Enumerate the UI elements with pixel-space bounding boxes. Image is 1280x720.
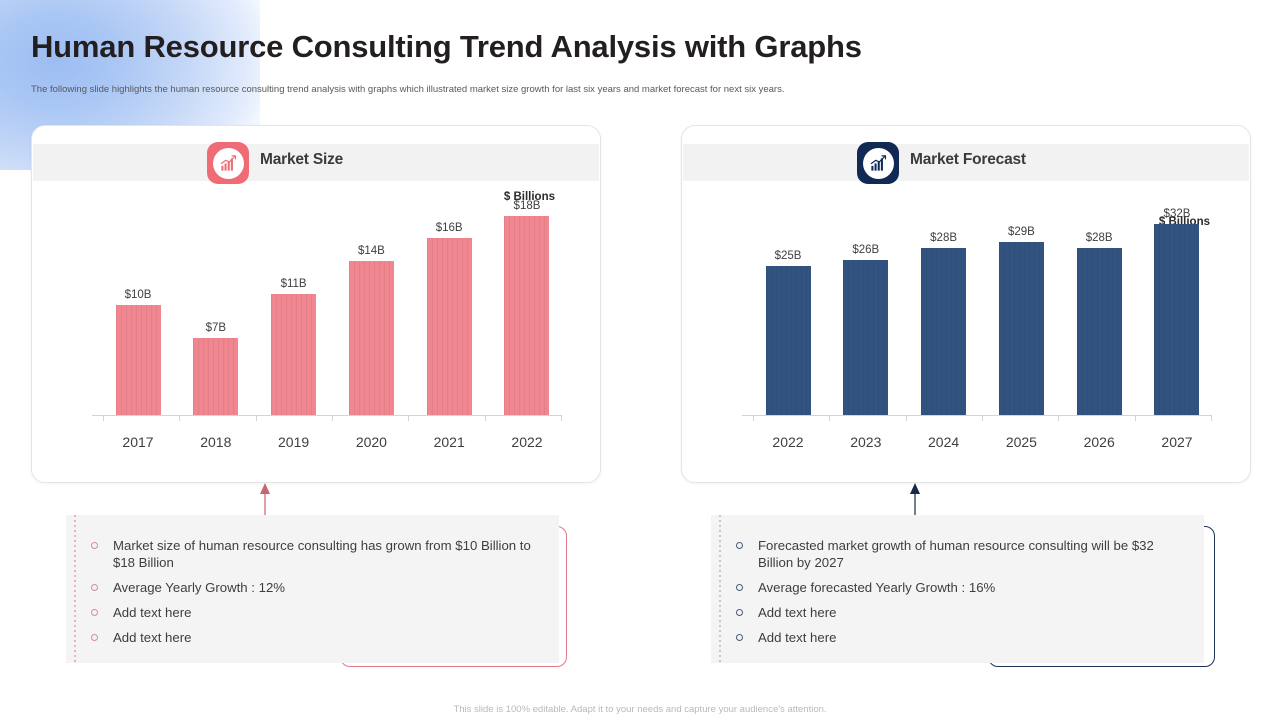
bar-value-label: $32B: [1164, 208, 1191, 220]
axis-tick: [179, 416, 180, 421]
bar-value-label: $28B: [930, 232, 957, 244]
market-size-notes-panel: Market size of human resource consulting…: [66, 515, 559, 663]
bullet-marker-icon: [91, 634, 98, 641]
bar-chart-growth-glyph: [219, 154, 238, 173]
bar-chart-growth-glyph: [869, 154, 888, 173]
axis-tick: [408, 416, 409, 421]
axis-tick: [982, 416, 983, 421]
x-axis-label: 2020: [336, 434, 406, 450]
dotted-rail: [74, 515, 76, 663]
bar-slot: $25B: [753, 192, 823, 416]
axis-tick: [1058, 416, 1059, 421]
bar-chart-growth-icon: [207, 142, 249, 184]
bar: [766, 266, 811, 416]
axis-tick: [561, 416, 562, 421]
market-forecast-notes-panel: Forecasted market growth of human resour…: [711, 515, 1204, 663]
axis-ticks: [103, 416, 562, 421]
plot-area: $10B$7B$11B$14B$16B$18B: [103, 192, 562, 416]
x-axis-label: 2021: [414, 434, 484, 450]
bar-slot: $28B: [909, 192, 979, 416]
axis-tick: [256, 416, 257, 421]
bullet-marker-icon: [736, 542, 743, 549]
footer-note: This slide is 100% editable. Adapt it to…: [0, 704, 1280, 715]
icon-disc: [863, 148, 894, 179]
x-axis-label: 2026: [1064, 434, 1134, 450]
bar-slot: $10B: [103, 192, 173, 416]
axis-tick: [1135, 416, 1136, 421]
bar: [1154, 224, 1199, 416]
bar-slot: $16B: [414, 192, 484, 416]
bar-value-label: $25B: [775, 250, 802, 262]
page-title: Human Resource Consulting Trend Analysis…: [31, 29, 862, 65]
x-axis-labels: 201720182019202020212022: [103, 434, 562, 450]
market-forecast-card: Market Forecast $ Billions $25B$26B$28B$…: [681, 125, 1251, 483]
axis-tick: [103, 416, 104, 421]
bar-value-label: $10B: [125, 289, 152, 301]
x-axis-label: 2022: [492, 434, 562, 450]
bar: [193, 338, 238, 416]
bar-value-label: $14B: [358, 245, 385, 257]
bar-value-label: $7B: [206, 322, 226, 334]
bullet-text: Average forecasted Yearly Growth : 16%: [758, 580, 995, 595]
axis-tick: [1211, 416, 1212, 421]
bullet-marker-icon: [736, 584, 743, 591]
bar-slot: $32B: [1142, 192, 1212, 416]
x-axis-label: 2023: [831, 434, 901, 450]
bullet-item: Add text here: [736, 629, 1190, 646]
bar-slot: $11B: [259, 192, 329, 416]
bullet-item: Average Yearly Growth : 12%: [91, 579, 545, 596]
bar-value-label: $26B: [852, 244, 879, 256]
bar-slot: $14B: [336, 192, 406, 416]
bullet-item: Forecasted market growth of human resour…: [736, 537, 1190, 571]
bar-value-label: $29B: [1008, 226, 1035, 238]
bar-chart-growth-icon: [857, 142, 899, 184]
market-size-card: Market Size $ Billions $10B$7B$11B$14B$1…: [31, 125, 601, 483]
bullet-marker-icon: [91, 609, 98, 616]
bullet-text: Add text here: [758, 630, 836, 645]
market-size-card-title: Market Size: [260, 151, 343, 169]
bar-slot: $18B: [492, 192, 562, 416]
bar: [271, 294, 316, 416]
axis-tick: [753, 416, 754, 421]
bullet-item: Add text here: [91, 604, 545, 621]
market-forecast-chart: $ Billions $25B$26B$28B$29B$28B$32B 2022…: [742, 192, 1212, 454]
axis-tick: [332, 416, 333, 421]
x-axis-label: 2025: [986, 434, 1056, 450]
bullet-text: Add text here: [113, 605, 191, 620]
market-size-chart: $ Billions $10B$7B$11B$14B$16B$18B 20172…: [92, 192, 562, 454]
bar: [999, 242, 1044, 416]
bullet-marker-icon: [91, 584, 98, 591]
bullet-list: Market size of human resource consulting…: [91, 537, 545, 654]
bullet-item: Add text here: [91, 629, 545, 646]
bullet-item: Average forecasted Yearly Growth : 16%: [736, 579, 1190, 596]
bullet-marker-icon: [736, 609, 743, 616]
bar-slot: $28B: [1064, 192, 1134, 416]
x-axis-label: 2027: [1142, 434, 1212, 450]
bar: [504, 216, 549, 416]
bar: [1077, 248, 1122, 416]
bar: [921, 248, 966, 416]
icon-disc: [213, 148, 244, 179]
axis-tick: [906, 416, 907, 421]
bar: [843, 260, 888, 416]
bar-slot: $7B: [181, 192, 251, 416]
bullet-text: Add text here: [758, 605, 836, 620]
bar-value-label: $16B: [436, 222, 463, 234]
axis-ticks: [753, 416, 1212, 421]
bar-slot: $29B: [986, 192, 1056, 416]
x-axis-labels: 202220232024202520262027: [753, 434, 1212, 450]
x-axis-label: 2022: [753, 434, 823, 450]
bullet-marker-icon: [91, 542, 98, 549]
bullet-text: Add text here: [113, 630, 191, 645]
market-forecast-card-title: Market Forecast: [910, 151, 1026, 169]
bar-value-label: $18B: [514, 200, 541, 212]
bar: [349, 261, 394, 416]
bullet-text: Market size of human resource consulting…: [113, 538, 531, 570]
bullet-list: Forecasted market growth of human resour…: [736, 537, 1190, 654]
x-axis-label: 2018: [181, 434, 251, 450]
bullet-item: Market size of human resource consulting…: [91, 537, 545, 571]
x-axis-label: 2024: [909, 434, 979, 450]
bullet-text: Average Yearly Growth : 12%: [113, 580, 285, 595]
bar: [116, 305, 161, 416]
bullet-marker-icon: [736, 634, 743, 641]
dotted-rail: [719, 515, 721, 663]
axis-tick: [485, 416, 486, 421]
bar-value-label: $28B: [1086, 232, 1113, 244]
bullet-text: Forecasted market growth of human resour…: [758, 538, 1154, 570]
bar-value-label: $11B: [281, 278, 307, 290]
x-axis-label: 2019: [259, 434, 329, 450]
page-subtitle: The following slide highlights the human…: [31, 84, 784, 95]
bullet-item: Add text here: [736, 604, 1190, 621]
x-axis-label: 2017: [103, 434, 173, 450]
plot-area: $25B$26B$28B$29B$28B$32B: [753, 192, 1212, 416]
bar: [427, 238, 472, 416]
bar-slot: $26B: [831, 192, 901, 416]
axis-tick: [829, 416, 830, 421]
